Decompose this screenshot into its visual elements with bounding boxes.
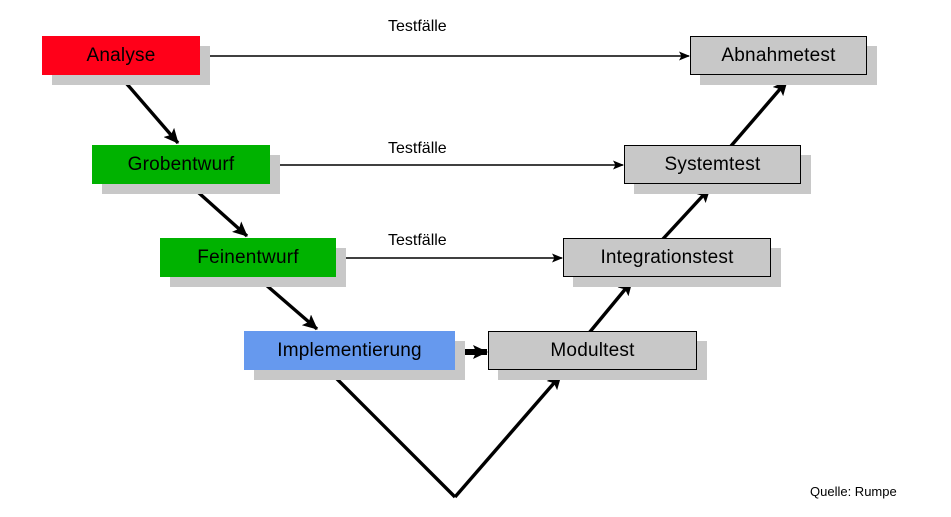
node-abnahmetest[interactable]: Abnahmetest — [690, 36, 867, 75]
connector-modultest-integrationstest — [589, 281, 632, 333]
node-modultest[interactable]: Modultest — [488, 331, 697, 370]
source-note: Quelle: Rumpe — [810, 484, 897, 499]
node-integrationstest[interactable]: Integrationstest — [563, 238, 771, 277]
edge-label-testfaelle-2: Testfälle — [388, 140, 447, 158]
node-grobentwurf[interactable]: Grobentwurf — [92, 145, 270, 184]
edge-label-testfaelle-1: Testfälle — [388, 18, 447, 36]
edge-label-testfaelle-3: Testfälle — [388, 232, 447, 250]
connector-systemtest-abnahmetest — [731, 81, 787, 146]
node-feinentwurf[interactable]: Feinentwurf — [160, 238, 336, 277]
connector-vertex-modultest — [455, 375, 561, 497]
v-model-diagram: Analyse Grobentwurf Feinentwurf Implemen… — [0, 0, 951, 517]
node-systemtest[interactable]: Systemtest — [624, 145, 801, 184]
connector-integrationstest-systemtest — [662, 188, 710, 240]
connector-analyse-grobentwurf — [120, 76, 178, 143]
node-implementierung[interactable]: Implementierung — [244, 331, 455, 370]
connector-implementierung-vertex — [331, 373, 455, 497]
node-analyse[interactable]: Analyse — [42, 36, 200, 75]
